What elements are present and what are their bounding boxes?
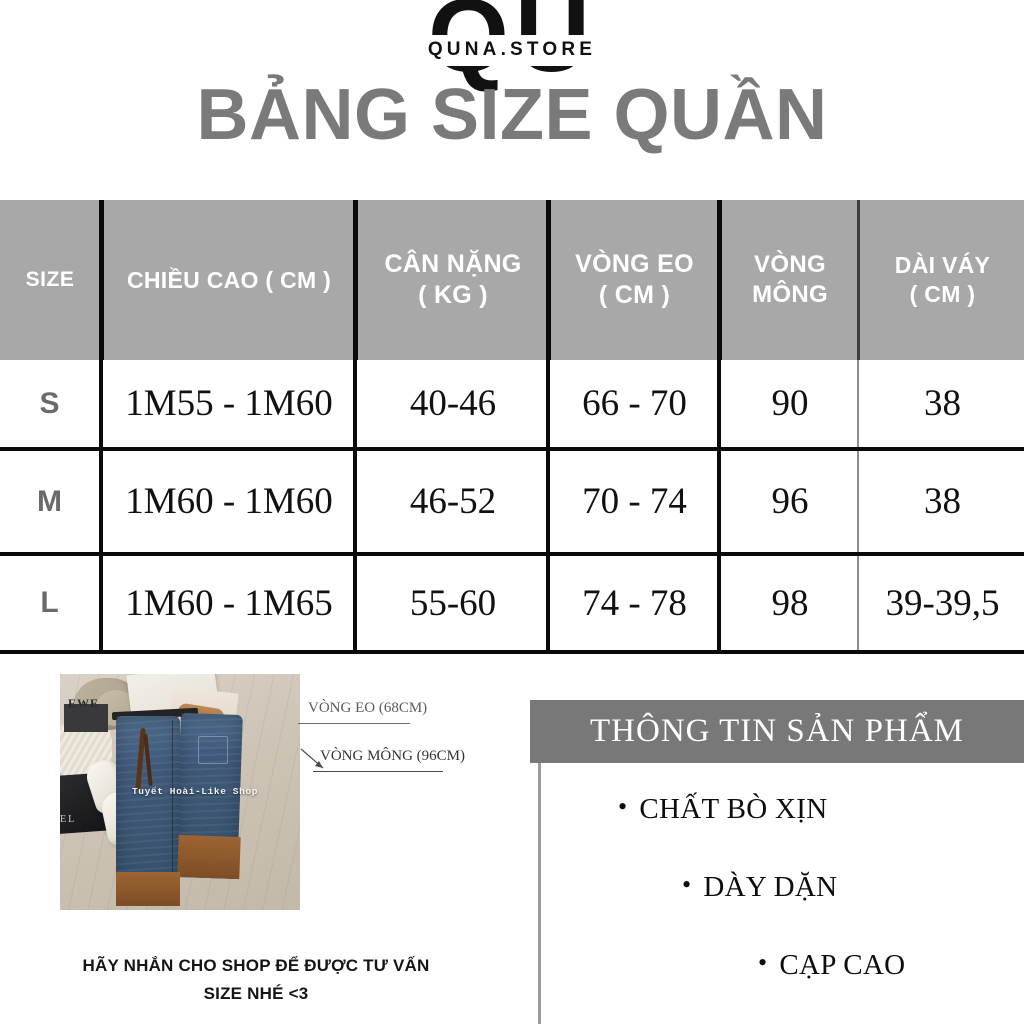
row-divider-3 [546, 360, 550, 447]
column-header-weight: CÂN NẶNG ( KG ) [359, 200, 547, 360]
row-divider-1 [99, 556, 103, 650]
annotation-waist-label: VÒNG EO (68CM) [308, 700, 427, 717]
column-header-waist-line2: ( CM ) [575, 280, 694, 311]
photo-watermark: Tuyết Hoài-Like Shop [110, 786, 280, 797]
column-header-hip-line1: VÒNG [752, 250, 828, 280]
table-row: M 1M60 - 1M60 46-52 70 - 74 96 38 [0, 451, 1024, 552]
row-divider-2 [353, 360, 357, 447]
cell-waist: 74 - 78 [551, 556, 718, 650]
header-divider-3 [546, 200, 551, 360]
row-divider-2 [353, 451, 357, 552]
footer-note: HÃY NHẮN CHO SHOP ĐỂ ĐƯỢC TƯ VẤN SIZE NH… [0, 952, 512, 1008]
bullet-icon: • [682, 870, 691, 900]
cell-height: 1M60 - 1M65 [104, 556, 354, 650]
row-divider-5 [857, 556, 859, 650]
cell-height: 1M55 - 1M60 [104, 360, 354, 447]
header-divider-4 [717, 200, 722, 360]
cell-hip: 96 [722, 451, 858, 552]
photo-jeans-cuff-left [116, 872, 180, 906]
product-info-item: •DÀY DẶN [682, 870, 837, 904]
column-header-length-line1: DÀI VÁY [895, 251, 990, 280]
cell-hip: 90 [722, 360, 858, 447]
row-divider-4 [717, 451, 721, 552]
photo-magazine-text: EWE [68, 696, 99, 711]
bullet-icon: • [758, 948, 767, 978]
row-divider-4 [717, 556, 721, 650]
table-bottom-rule [0, 650, 1024, 654]
annotation-hip-underline [313, 771, 443, 772]
photo-jeans-cuff-right [177, 835, 240, 879]
product-info-item: •CẠP CAO [758, 948, 905, 982]
product-info-header-text: THÔNG TIN SẢN PHẨM [590, 713, 964, 750]
cell-length: 39-39,5 [861, 556, 1024, 650]
row-divider-1 [99, 360, 103, 447]
photo-jeans-pocket [198, 736, 228, 764]
footer-note-line1: HÃY NHẮN CHO SHOP ĐỂ ĐƯỢC TƯ VẤN [0, 952, 512, 980]
table-row: L 1M60 - 1M65 55-60 74 - 78 98 39-39,5 [0, 556, 1024, 650]
annotation-hip-label: VÒNG MÔNG (96CM) [320, 748, 465, 765]
product-info-item-label: DÀY DẶN [703, 871, 837, 903]
column-header-length-line2: ( CM ) [895, 280, 990, 309]
column-header-weight-line2: ( KG ) [384, 280, 521, 311]
bullet-icon: • [618, 792, 627, 822]
header-divider-5 [857, 200, 860, 360]
logo-wordmark: QUNA.STORE [0, 35, 1024, 66]
cell-size: L [0, 556, 100, 650]
cell-length: 38 [861, 360, 1024, 447]
row-divider-1 [99, 451, 103, 552]
size-table: SIZE CHIỀU CAO ( CM ) CÂN NẶNG ( KG ) VÒ… [0, 200, 1024, 650]
row-divider-3 [546, 556, 550, 650]
product-info-left-border [538, 763, 541, 1024]
header-divider-2 [353, 200, 358, 360]
cell-weight: 40-46 [359, 360, 547, 447]
product-info-header: THÔNG TIN SẢN PHẨM [530, 700, 1024, 763]
header-divider-1 [99, 200, 104, 360]
footer-note-line2: SIZE NHÉ <3 [0, 980, 512, 1008]
size-chart-page: QU QUNA.STORE BẢNG SIZE QUẦN SIZE CHIỀU … [0, 0, 1024, 1024]
column-header-weight-line1: CÂN NẶNG [384, 249, 521, 280]
page-title: BẢNG SIZE QUẦN [0, 78, 1024, 154]
row-divider-3 [546, 451, 550, 552]
column-header-hip: VÒNG MÔNG [722, 200, 858, 360]
product-info-item-label: CẠP CAO [779, 949, 905, 981]
product-photo: EWE EL Tuyết Hoài-Like Shop [60, 674, 300, 910]
photo-bag-text: EL [60, 814, 76, 825]
cell-size: S [0, 360, 100, 447]
cell-height: 1M60 - 1M60 [104, 451, 354, 552]
row-divider-5 [857, 451, 859, 552]
product-info-panel: THÔNG TIN SẢN PHẨM •CHẤT BÒ XỊN •DÀY DẶN… [530, 700, 1024, 1024]
cell-length: 38 [861, 451, 1024, 552]
column-header-size: SIZE [0, 200, 100, 360]
annotation-hip-arrow-icon [300, 748, 326, 770]
row-divider-2 [353, 556, 357, 650]
cell-waist: 70 - 74 [551, 451, 718, 552]
annotation-waist-underline [298, 723, 410, 724]
column-header-length: DÀI VÁY ( CM ) [861, 200, 1024, 360]
column-header-hip-line2: MÔNG [752, 280, 828, 310]
cell-waist: 66 - 70 [551, 360, 718, 447]
cell-size: M [0, 451, 100, 552]
column-header-waist: VÒNG EO ( CM ) [551, 200, 718, 360]
product-info-item-label: CHẤT BÒ XỊN [639, 793, 827, 825]
product-info-item: •CHẤT BÒ XỊN [618, 792, 827, 826]
table-row: S 1M55 - 1M60 40-46 66 - 70 90 38 [0, 360, 1024, 447]
table-header-row: SIZE CHIỀU CAO ( CM ) CÂN NẶNG ( KG ) VÒ… [0, 200, 1024, 360]
cell-weight: 46-52 [359, 451, 547, 552]
row-divider-4 [717, 360, 721, 447]
row-divider-5 [857, 360, 859, 447]
column-header-height: CHIỀU CAO ( CM ) [104, 200, 354, 360]
cell-hip: 98 [722, 556, 858, 650]
cell-weight: 55-60 [359, 556, 547, 650]
column-header-waist-line1: VÒNG EO [575, 249, 694, 280]
